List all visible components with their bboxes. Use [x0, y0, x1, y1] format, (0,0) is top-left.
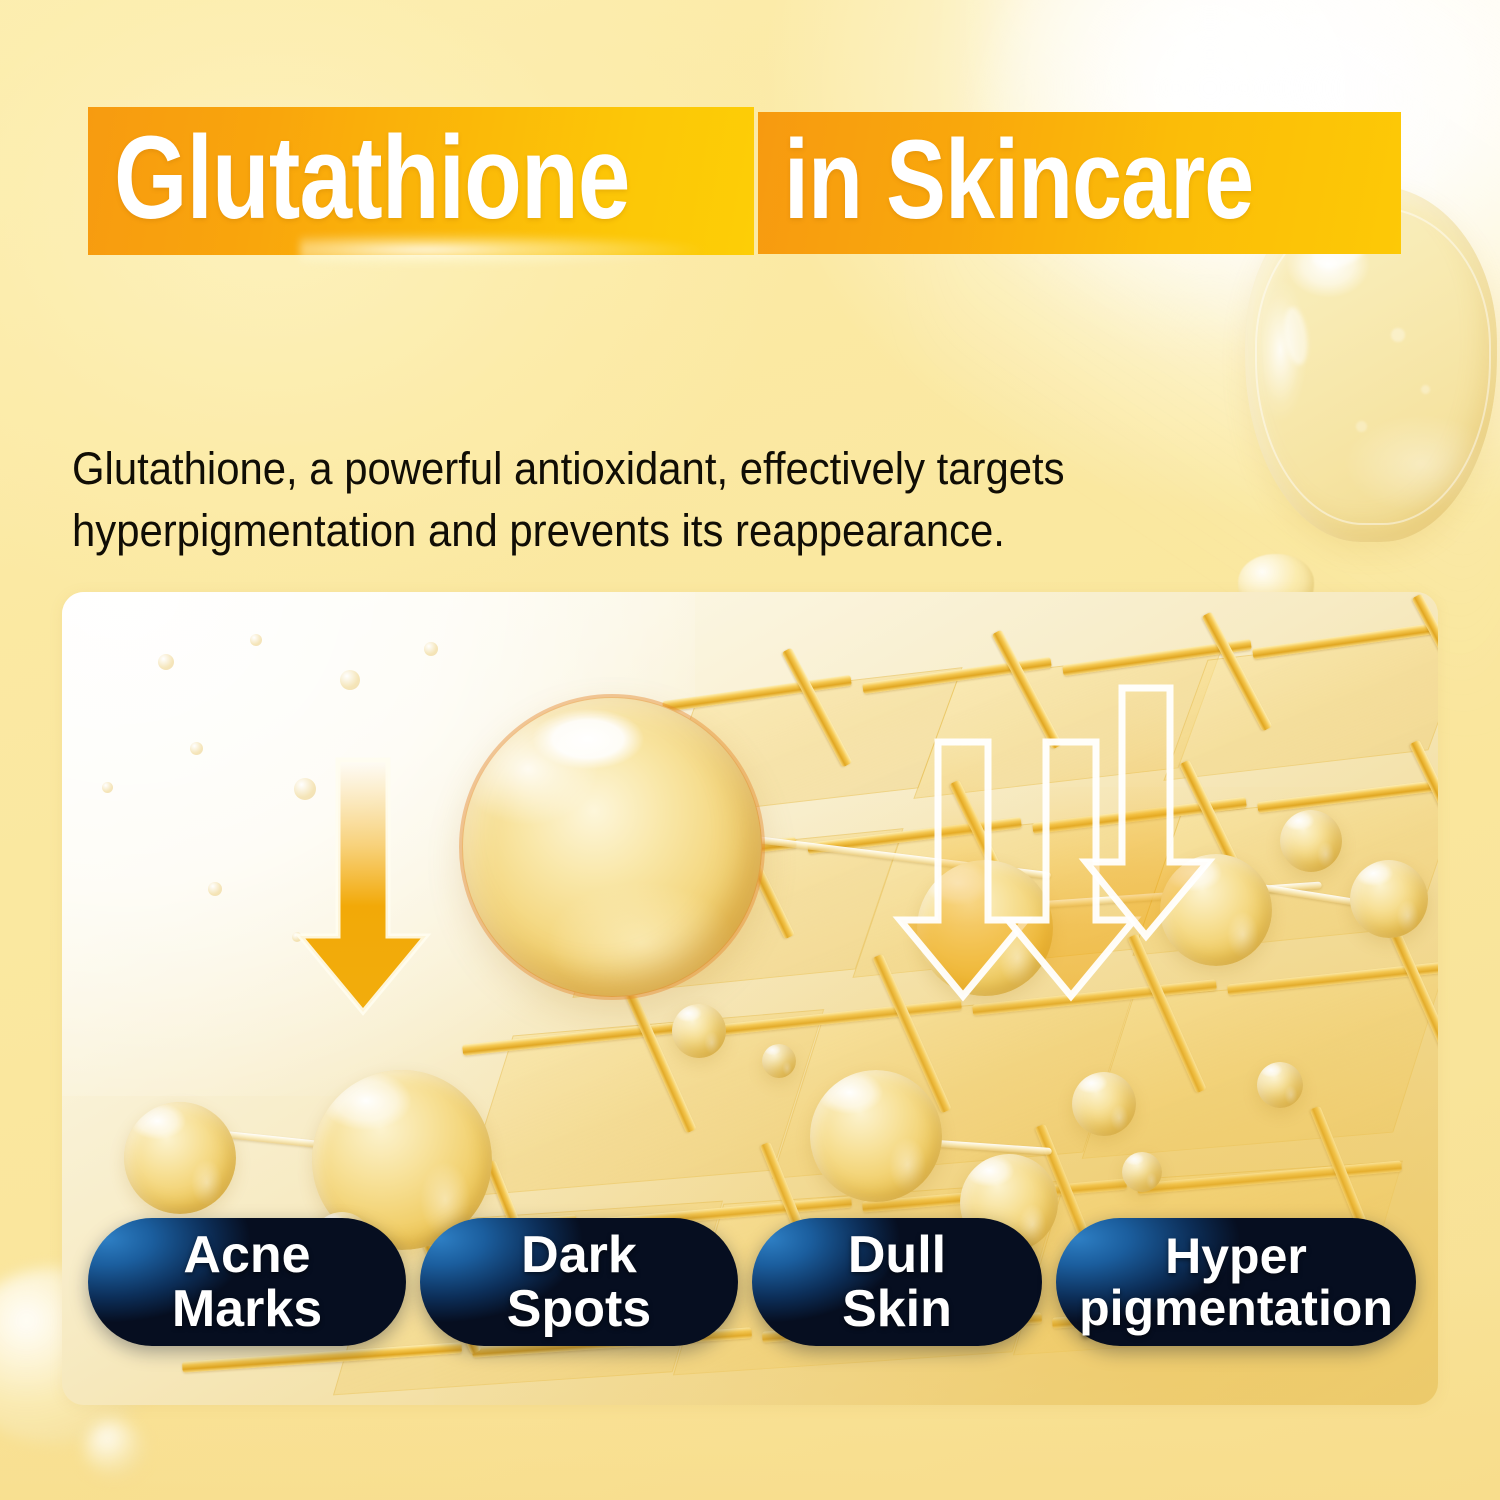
benefit-pill-hyperpigmentation[interactable]: Hyper pigmentation: [1056, 1218, 1416, 1346]
micro-bubble: [102, 782, 113, 793]
micro-bubble: [424, 642, 438, 656]
benefit-pill-line-2: pigmentation: [1079, 1282, 1393, 1334]
benefit-pill-line-1: Hyper: [1079, 1230, 1393, 1282]
benefit-pill-dark-spots[interactable]: Dark Spots: [420, 1218, 738, 1346]
benefit-pill-label: Dark Spots: [507, 1228, 651, 1336]
molecule-sphere: [1280, 810, 1342, 872]
molecule-sphere: [1072, 1072, 1136, 1136]
product-infographic: Glutathione in Skincare Glutathione, a p…: [0, 0, 1500, 1500]
benefit-pill-line-2: Spots: [507, 1282, 651, 1336]
molecule-sphere: [762, 1044, 796, 1078]
molecule-sphere-main: [462, 697, 762, 997]
molecule-sphere: [124, 1102, 236, 1214]
molecule-sphere: [810, 1070, 942, 1202]
subtitle-text: Glutathione, a powerful antioxidant, eff…: [72, 438, 1202, 562]
molecule-sphere: [672, 1004, 726, 1058]
molecule-sphere: [1350, 860, 1428, 938]
molecule-sphere: [1122, 1152, 1162, 1192]
title-line-2: in Skincare: [784, 118, 1253, 242]
micro-bubble: [208, 882, 222, 896]
benefit-pill-line-1: Dull: [842, 1228, 952, 1282]
micro-bubble: [158, 654, 174, 670]
bubble-decor-bottom-left-2: [84, 1420, 144, 1476]
title-line-1-bar: Glutathione: [88, 107, 754, 255]
micro-bubble: [340, 670, 360, 690]
benefit-pill-line-1: Dark: [507, 1228, 651, 1282]
arrow-down-4: [1084, 688, 1210, 944]
benefit-pill-line-2: Marks: [172, 1282, 322, 1336]
benefit-pill-acne-marks[interactable]: Acne Marks: [88, 1218, 406, 1346]
molecule-sphere: [1257, 1062, 1303, 1108]
arrow-down-1: [298, 760, 428, 1020]
benefit-pill-row: Acne Marks Dark Spots Dull Skin Hyper pi…: [0, 1218, 1500, 1346]
benefit-pill-label: Acne Marks: [172, 1228, 322, 1336]
micro-bubble: [250, 634, 262, 646]
micro-bubble: [190, 742, 203, 755]
benefit-pill-label: Hyper pigmentation: [1079, 1230, 1393, 1334]
benefit-pill-dull-skin[interactable]: Dull Skin: [752, 1218, 1042, 1346]
benefit-pill-line-2: Skin: [842, 1282, 952, 1336]
title-line-2-bar: in Skincare: [758, 112, 1401, 254]
title-line-1: Glutathione: [114, 113, 630, 243]
benefit-pill-label: Dull Skin: [842, 1228, 952, 1336]
page-title: Glutathione in Skincare: [88, 98, 1401, 255]
benefit-pill-line-1: Acne: [172, 1228, 322, 1282]
